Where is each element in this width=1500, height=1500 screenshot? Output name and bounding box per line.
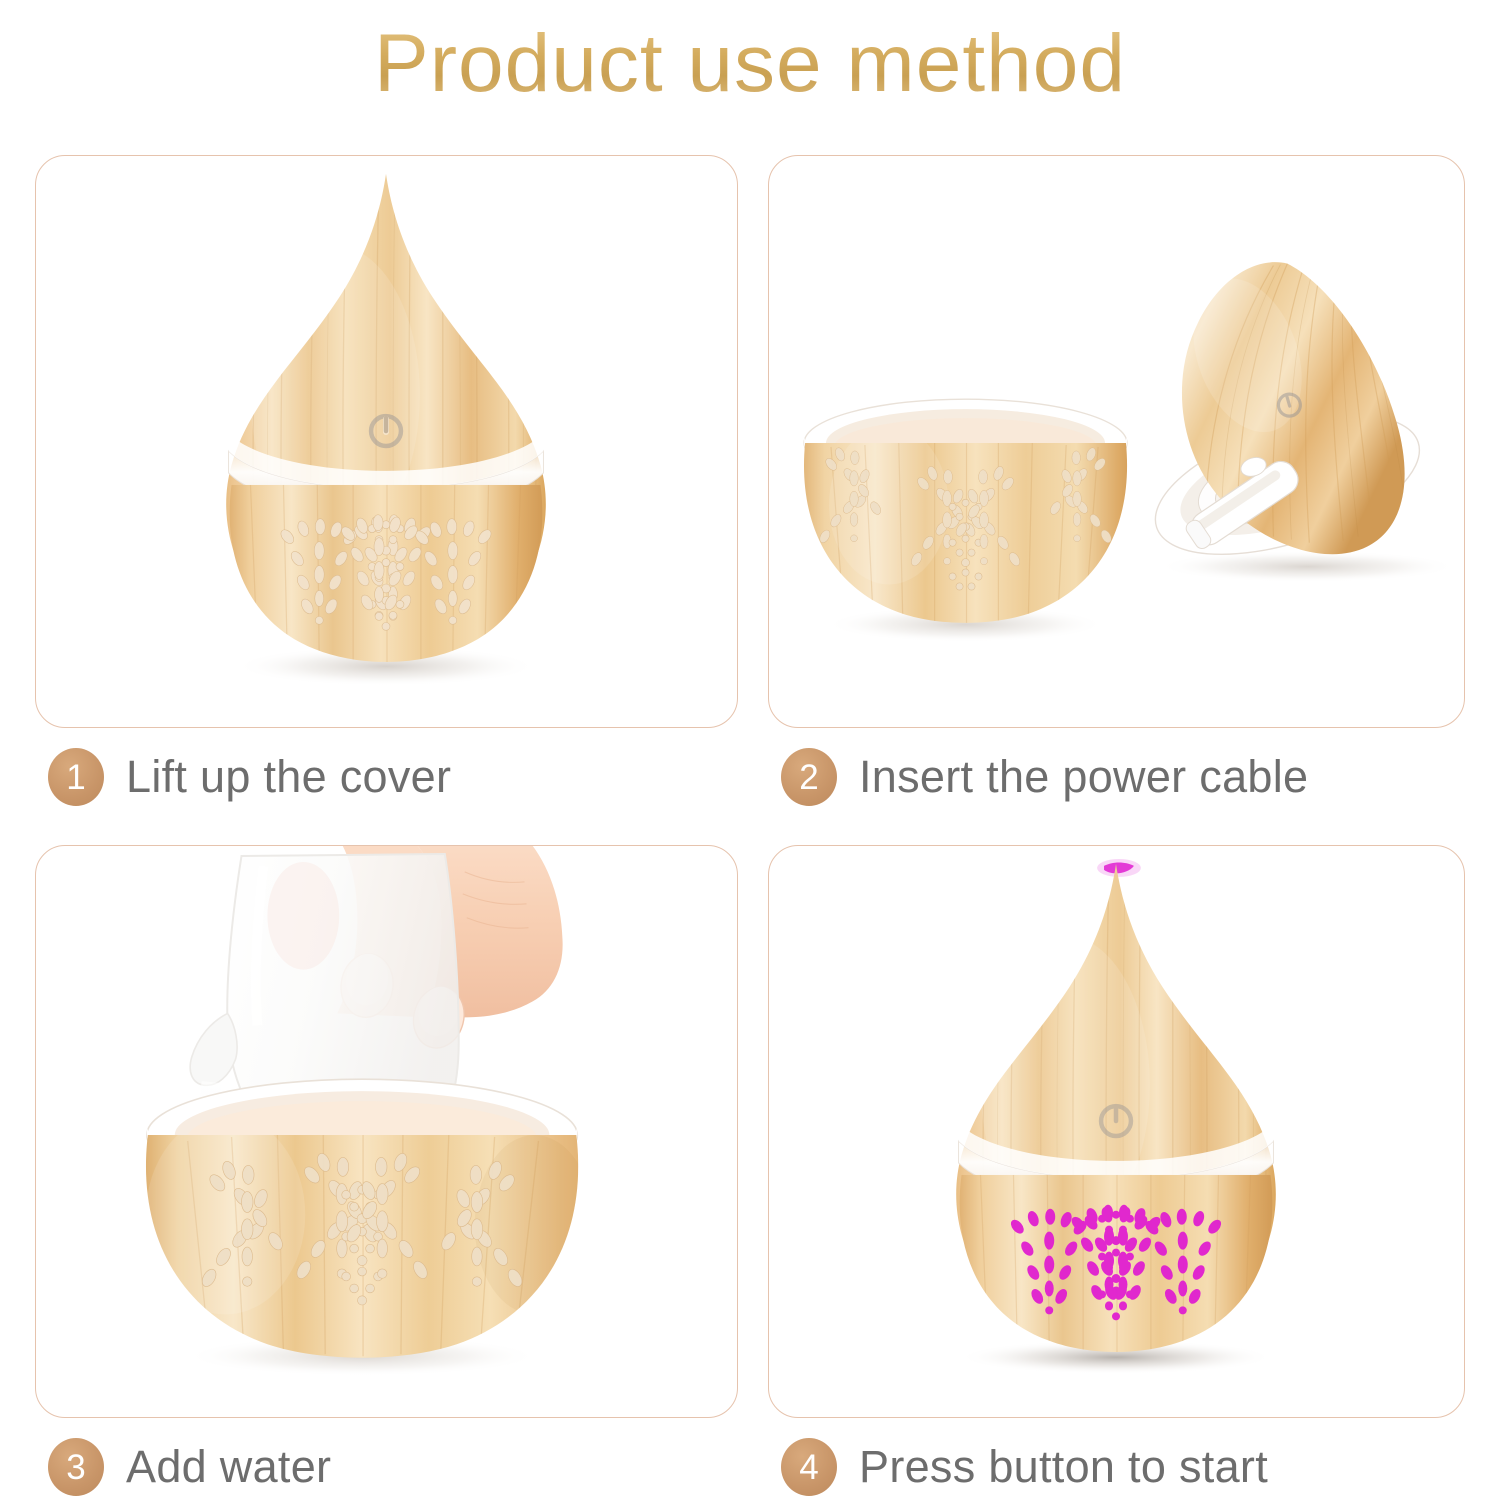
step-caption-2: 2 Insert the power cable: [781, 748, 1308, 806]
product-image-base-and-detached-lid: [769, 156, 1464, 727]
step-panel-3: [35, 845, 738, 1418]
step-label-4: Press button to start: [859, 1441, 1268, 1493]
step-caption-3: 3 Add water: [48, 1438, 331, 1496]
product-image-assembled-diffuser: [36, 156, 737, 727]
step-badge-2: 2: [781, 748, 837, 806]
step-caption-1: 1 Lift up the cover: [48, 748, 451, 806]
page-title: Product use method: [0, 14, 1500, 114]
step-panel-2: [768, 155, 1465, 728]
step-label-3: Add water: [126, 1441, 331, 1493]
step-panel-1: [35, 155, 738, 728]
spout-glow: [1097, 859, 1141, 877]
step-caption-4: 4 Press button to start: [781, 1438, 1268, 1496]
step-label-2: Insert the power cable: [859, 751, 1308, 803]
product-image-diffuser-glowing: [769, 846, 1464, 1417]
step-badge-1: 1: [48, 748, 104, 806]
step-panel-4: [768, 845, 1465, 1418]
product-image-hand-pouring-water: [36, 846, 737, 1417]
infographic-page: Product use method: [0, 0, 1500, 1500]
step-badge-4: 4: [781, 1438, 837, 1496]
step-badge-3: 3: [48, 1438, 104, 1496]
step-label-1: Lift up the cover: [126, 751, 451, 803]
